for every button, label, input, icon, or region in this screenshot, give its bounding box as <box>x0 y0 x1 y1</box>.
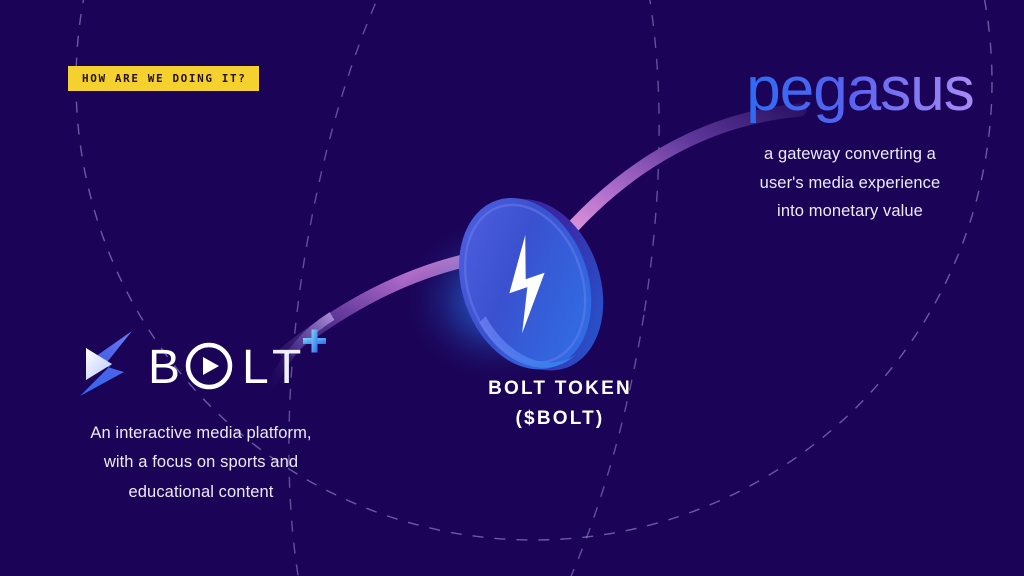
pegasus-block: a gateway converting a user's media expe… <box>720 52 980 226</box>
pegasus-tagline-line-3: into monetary value <box>720 197 980 226</box>
bolt-tagline-line-3: educational content <box>48 478 354 507</box>
coin-caption-ticker: ($BOLT) <box>420 408 700 430</box>
bolt-block: An interactive media platform, with a fo… <box>48 322 354 507</box>
slide-canvas: B L T pegasus HOW ARE WE DOING IT? a gat… <box>0 0 1024 576</box>
bolt-tagline: An interactive media platform, with a fo… <box>48 419 354 507</box>
pegasus-tagline: a gateway converting a user's media expe… <box>720 140 980 226</box>
pegasus-tagline-line-1: a gateway converting a <box>720 140 980 169</box>
pegasus-tagline-line-2: user's media experience <box>720 169 980 198</box>
how-are-we-doing-it-badge[interactable]: HOW ARE WE DOING IT? <box>68 66 259 91</box>
bolt-tagline-line-1: An interactive media platform, <box>48 419 354 448</box>
bolt-logo-slot <box>48 322 354 396</box>
bolt-tagline-line-2: with a focus on sports and <box>48 448 354 477</box>
pegasus-logo-slot <box>720 52 980 114</box>
coin-caption: BOLT TOKEN ($BOLT) <box>420 378 700 430</box>
coin-caption-title: BOLT TOKEN <box>420 378 700 400</box>
